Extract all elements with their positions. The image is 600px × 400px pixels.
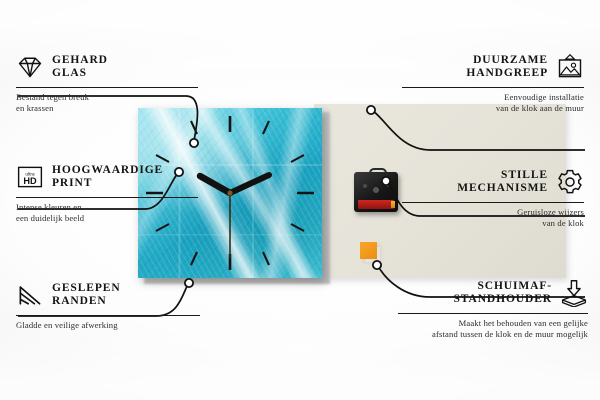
feature-title-line2: HANDGREEP [466, 67, 548, 81]
feature-title-line2: RANDEN [52, 295, 121, 309]
feature-schuimafstandhouder: SCHUIMAF- STANDHOUDER Maakt het behouden… [398, 276, 588, 340]
feature-title-line1: HOOGWAARDIGE [52, 164, 163, 178]
svg-text:HD: HD [23, 176, 37, 186]
divider [16, 87, 198, 88]
feature-title-line2: STANDHOUDER [453, 293, 552, 307]
diagonal-lines-icon [16, 281, 44, 309]
foam-spacer [360, 242, 377, 259]
divider [398, 313, 588, 314]
feature-geslepen-randen: GESLEPEN RANDEN Gladde en veilige afwerk… [16, 278, 200, 331]
feature-title-line1: GEHARD [52, 54, 108, 68]
feature-title-line1: STILLE [457, 169, 548, 183]
divider [402, 87, 584, 88]
feature-desc-line2: afstand tussen de klok en de muur mogeli… [398, 329, 588, 340]
ultra-hd-icon: ultra HD [16, 163, 44, 191]
feature-desc-line2: van de klok [402, 218, 584, 229]
feature-hoogwaardige-print: ultra HD HOOGWAARDIGE PRINT Intense kleu… [16, 160, 198, 224]
feature-gehard-glas: GEHARD GLAS Bestand tegen breuk en krass… [16, 50, 198, 114]
feature-desc-line2: een duidelijk beeld [16, 213, 198, 224]
feature-desc-line1: Gladde en veilige afwerking [16, 320, 200, 331]
mechanism-details [359, 182, 393, 196]
feature-title-line1: GESLEPEN [52, 282, 121, 296]
clock-movement-mechanism [354, 168, 398, 212]
feature-desc-line2: van de klok aan de muur [402, 103, 584, 114]
divider [16, 197, 198, 198]
feature-title-line1: SCHUIMAF- [453, 280, 552, 294]
picture-frame-icon [556, 53, 584, 81]
feature-title-line2: PRINT [52, 177, 163, 191]
feature-desc-line1: Maakt het behouden van een gelijke [398, 318, 588, 329]
divider [16, 315, 200, 316]
feature-title-line2: GLAS [52, 67, 108, 81]
press-down-icon [560, 279, 588, 307]
mechanism-body [354, 172, 398, 212]
feature-title-line1: DUURZAME [466, 54, 548, 68]
feature-desc-line1: Eenvoudige installatie [402, 92, 584, 103]
clock-hands [200, 175, 269, 258]
feature-title-line2: MECHANISME [457, 182, 548, 196]
divider [402, 202, 584, 203]
feature-stille-mechanisme: STILLE MECHANISME Geruisloze wijzers van… [402, 165, 584, 229]
feature-desc-line1: Intense kleuren en [16, 202, 198, 213]
feature-desc-line2: en krassen [16, 103, 198, 114]
feature-desc-line1: Geruisloze wijzers [402, 207, 584, 218]
feature-desc-line1: Bestand tegen breuk [16, 92, 198, 103]
diamond-icon [16, 53, 44, 81]
infographic-canvas: GEHARD GLAS Bestand tegen breuk en krass… [0, 0, 600, 400]
feature-duurzame-handgreep: DUURZAME HANDGREEP Eenvoudige installati… [402, 50, 584, 114]
battery [358, 200, 394, 209]
gear-icon [556, 168, 584, 196]
